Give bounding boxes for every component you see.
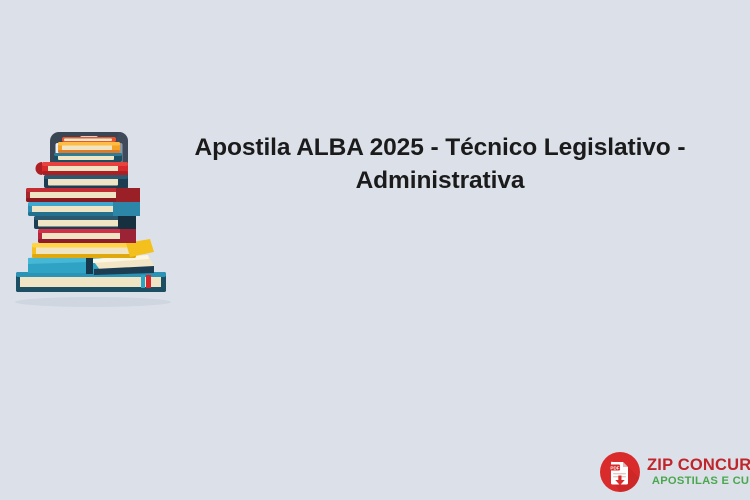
stack-of-books-with-tablet-illustration: [8, 112, 178, 312]
brand-logo[interactable]: PDF ZIP CONCURSOS APOSTILAS E CURSOS: [599, 450, 744, 494]
book-navy-upper: [44, 175, 128, 188]
book-dark-red: [26, 188, 140, 202]
book-orange-top: [58, 142, 120, 153]
title-block: Apostila ALBA 2025 - Técnico Legislativo…: [190, 132, 690, 197]
brand-tagline: APOSTILAS E CURSOS: [647, 476, 750, 487]
book-teal-thin-top: [54, 153, 122, 162]
poster-canvas: Apostila ALBA 2025 - Técnico Legislativo…: [0, 0, 750, 500]
book-crimson: [38, 229, 136, 243]
brand-text: ZIP CONCURSOS APOSTILAS E CURSOS: [647, 457, 750, 488]
page-title: Apostila ALBA 2025 - Técnico Legislativo…: [190, 132, 690, 197]
book-blue-bright: [28, 202, 140, 216]
book-navy-mid: [34, 216, 136, 229]
brand-name: ZIP CONCURSOS: [647, 457, 750, 474]
book-red-upper: [36, 162, 129, 175]
book-base-teal: [16, 272, 166, 292]
svg-text:PDF: PDF: [610, 465, 619, 470]
ground-shadow: [15, 297, 171, 307]
book-sliver-top: [62, 137, 116, 142]
pdf-download-icon: PDF: [599, 451, 641, 493]
